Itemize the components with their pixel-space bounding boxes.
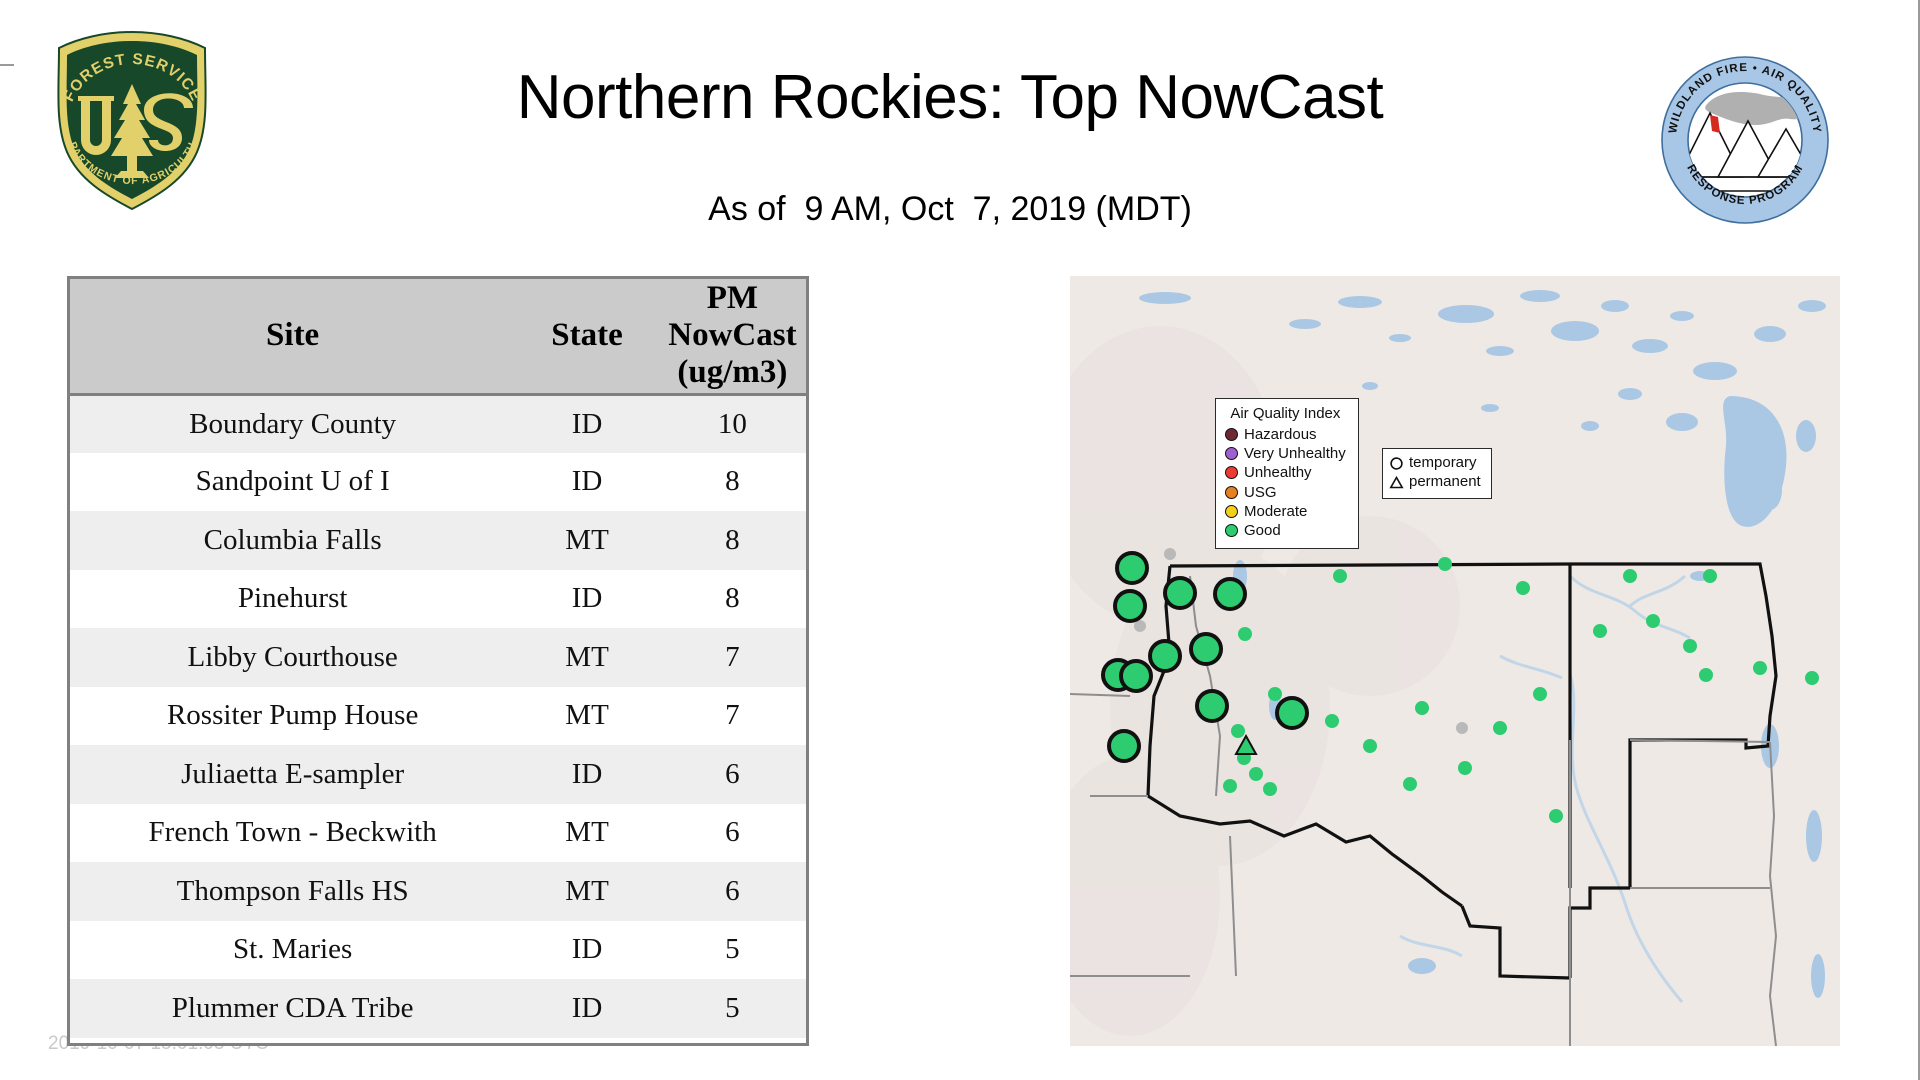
aqi-legend-item-hazardous: Hazardous	[1225, 425, 1346, 444]
aqi-legend-item-usg: USG	[1225, 483, 1346, 502]
monitor-symbol-legend: temporary permanent	[1382, 448, 1492, 499]
aqi-label-hazardous: Hazardous	[1244, 425, 1317, 444]
aqi-swatch-good	[1225, 524, 1238, 537]
cell-state: ID	[515, 394, 659, 453]
cell-site: Rossiter Pump House	[70, 687, 515, 746]
cell-value: 5	[659, 979, 806, 1038]
table-row: Pinehurst ID 8	[70, 570, 806, 629]
aqi-label-usg: USG	[1244, 483, 1277, 502]
aqi-label-moderate: Moderate	[1244, 502, 1307, 521]
slide-edge-mark-left	[0, 64, 14, 66]
cell-state: MT	[515, 511, 659, 570]
table-body: Boundary County ID 10 Sandpoint U of I I…	[70, 394, 806, 1038]
triangle-icon	[1389, 475, 1404, 490]
aqi-legend-item-moderate: Moderate	[1225, 502, 1346, 521]
cell-value: 7	[659, 628, 806, 687]
aqi-label-good: Good	[1244, 521, 1281, 540]
cell-site: Thompson Falls HS	[70, 862, 515, 921]
table-row: Plummer CDA Tribe ID 5	[70, 979, 806, 1038]
cell-site: Pinehurst	[70, 570, 515, 629]
column-header-pm-line1: PM	[659, 280, 806, 317]
table-row: Rossiter Pump House MT 7	[70, 687, 806, 746]
aqi-legend-item-unhealthy: Unhealthy	[1225, 463, 1346, 482]
slide-subtitle: As of 9 AM, Oct 7, 2019 (MDT)	[260, 190, 1640, 229]
cell-value: 7	[659, 687, 806, 746]
column-header-site-label: Site	[266, 317, 319, 353]
table-header-row: Site State PM NowCast (ug/m3)	[70, 279, 806, 394]
cell-value: 6	[659, 745, 806, 804]
aqi-swatch-unhealthy	[1225, 466, 1238, 479]
cell-state: ID	[515, 979, 659, 1038]
table-row: French Town - Beckwith MT 6	[70, 804, 806, 863]
circle-icon	[1389, 456, 1404, 471]
cell-value: 5	[659, 921, 806, 980]
aqi-legend-item-very-unhealthy: Very Unhealthy	[1225, 444, 1346, 463]
cell-state: MT	[515, 628, 659, 687]
aqi-swatch-usg	[1225, 486, 1238, 499]
cell-value: 8	[659, 570, 806, 629]
wfaqrp-circle-logo: WILDLAND FIRE • AIR QUALITY RESPONSE PRO…	[1660, 55, 1830, 225]
usfs-shield-logo: FOREST SERVICE DEPARTMENT OF AGRICULTURE	[45, 28, 220, 213]
column-header-pm-line2: NowCast	[659, 317, 806, 354]
table-row: Libby Courthouse MT 7	[70, 628, 806, 687]
aqi-label-unhealthy: Unhealthy	[1244, 463, 1312, 482]
symbol-label-permanent: permanent	[1409, 473, 1481, 492]
aqi-swatch-moderate	[1225, 505, 1238, 518]
cell-value: 6	[659, 862, 806, 921]
cell-state: MT	[515, 862, 659, 921]
cell-site: Libby Courthouse	[70, 628, 515, 687]
cell-site: Boundary County	[70, 394, 515, 453]
slide-title: Northern Rockies: Top NowCast	[260, 62, 1640, 133]
symbol-legend-item-temporary: temporary	[1389, 454, 1481, 473]
cell-value: 8	[659, 453, 806, 512]
cell-state: ID	[515, 453, 659, 512]
column-header-site: Site	[70, 279, 515, 394]
aqi-swatch-hazardous	[1225, 428, 1238, 441]
cell-value: 8	[659, 511, 806, 570]
cell-state: ID	[515, 921, 659, 980]
column-header-state-label: State	[551, 317, 622, 353]
slide-root: FOREST SERVICE DEPARTMENT OF AGRICULTURE…	[0, 0, 1920, 1080]
cell-site: French Town - Beckwith	[70, 804, 515, 863]
aqi-legend-item-good: Good	[1225, 521, 1346, 540]
cell-site: Sandpoint U of I	[70, 453, 515, 512]
aqi-legend: Air Quality Index Hazardous Very Unhealt…	[1215, 398, 1359, 549]
top-nowcast-table: Site State PM NowCast (ug/m3) Boundary C…	[70, 279, 806, 1038]
table-row: Sandpoint U of I ID 8	[70, 453, 806, 512]
air-quality-monitor-map	[1070, 276, 1840, 1046]
column-header-pm-nowcast: PM NowCast (ug/m3)	[659, 279, 806, 394]
top-nowcast-table-container: Site State PM NowCast (ug/m3) Boundary C…	[67, 276, 809, 1046]
table-row: St. Maries ID 5	[70, 921, 806, 980]
table-row: Boundary County ID 10	[70, 394, 806, 453]
table-row: Juliaetta E-sampler ID 6	[70, 745, 806, 804]
symbol-legend-item-permanent: permanent	[1389, 473, 1481, 492]
aqi-legend-title: Air Quality Index	[1225, 405, 1346, 422]
cell-site: Plummer CDA Tribe	[70, 979, 515, 1038]
cell-state: MT	[515, 804, 659, 863]
column-header-state: State	[515, 279, 659, 394]
cell-value: 6	[659, 804, 806, 863]
cell-value: 10	[659, 394, 806, 453]
table-row: Columbia Falls MT 8	[70, 511, 806, 570]
cell-state: ID	[515, 570, 659, 629]
table-row: Thompson Falls HS MT 6	[70, 862, 806, 921]
cell-state: MT	[515, 687, 659, 746]
aqi-swatch-very-unhealthy	[1225, 447, 1238, 460]
aqi-label-very-unhealthy: Very Unhealthy	[1244, 444, 1346, 463]
symbol-label-temporary: temporary	[1409, 454, 1477, 473]
cell-site: Columbia Falls	[70, 511, 515, 570]
cell-site: Juliaetta E-sampler	[70, 745, 515, 804]
column-header-pm-line3: (ug/m3)	[659, 354, 806, 391]
cell-state: ID	[515, 745, 659, 804]
cell-site: St. Maries	[70, 921, 515, 980]
